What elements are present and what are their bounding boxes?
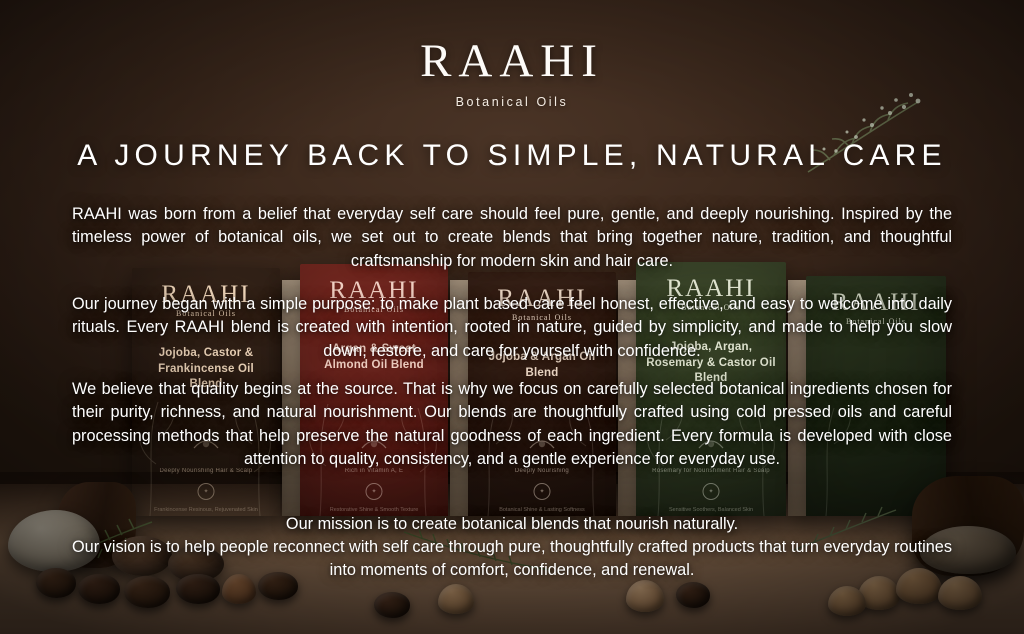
almond	[626, 580, 664, 612]
nut	[676, 582, 710, 608]
almond	[828, 586, 866, 616]
nut	[374, 592, 410, 618]
about-paragraph-3: We believe that quality begins at the so…	[72, 378, 952, 472]
almond	[438, 584, 474, 614]
nut	[36, 568, 76, 598]
brand-tagline: Botanical Oils	[0, 95, 1024, 109]
about-paragraph-2: Our journey began with a simple purpose:…	[72, 293, 952, 363]
vision-statement: Our vision is to help people reconnect w…	[72, 536, 952, 583]
brand-logo: RAAHI Botanical Oils	[0, 38, 1024, 109]
mission-statement: Our mission is to create botanical blend…	[72, 513, 952, 536]
about-page: RAAHI Botanical Oils Jojoba, Castor & Fr…	[0, 0, 1024, 634]
brand-name: RAAHI	[0, 38, 1024, 85]
page-title: A JOURNEY BACK TO SIMPLE, NATURAL CARE	[0, 139, 1024, 173]
about-paragraph-1: RAAHI was born from a belief that everyd…	[72, 203, 952, 273]
